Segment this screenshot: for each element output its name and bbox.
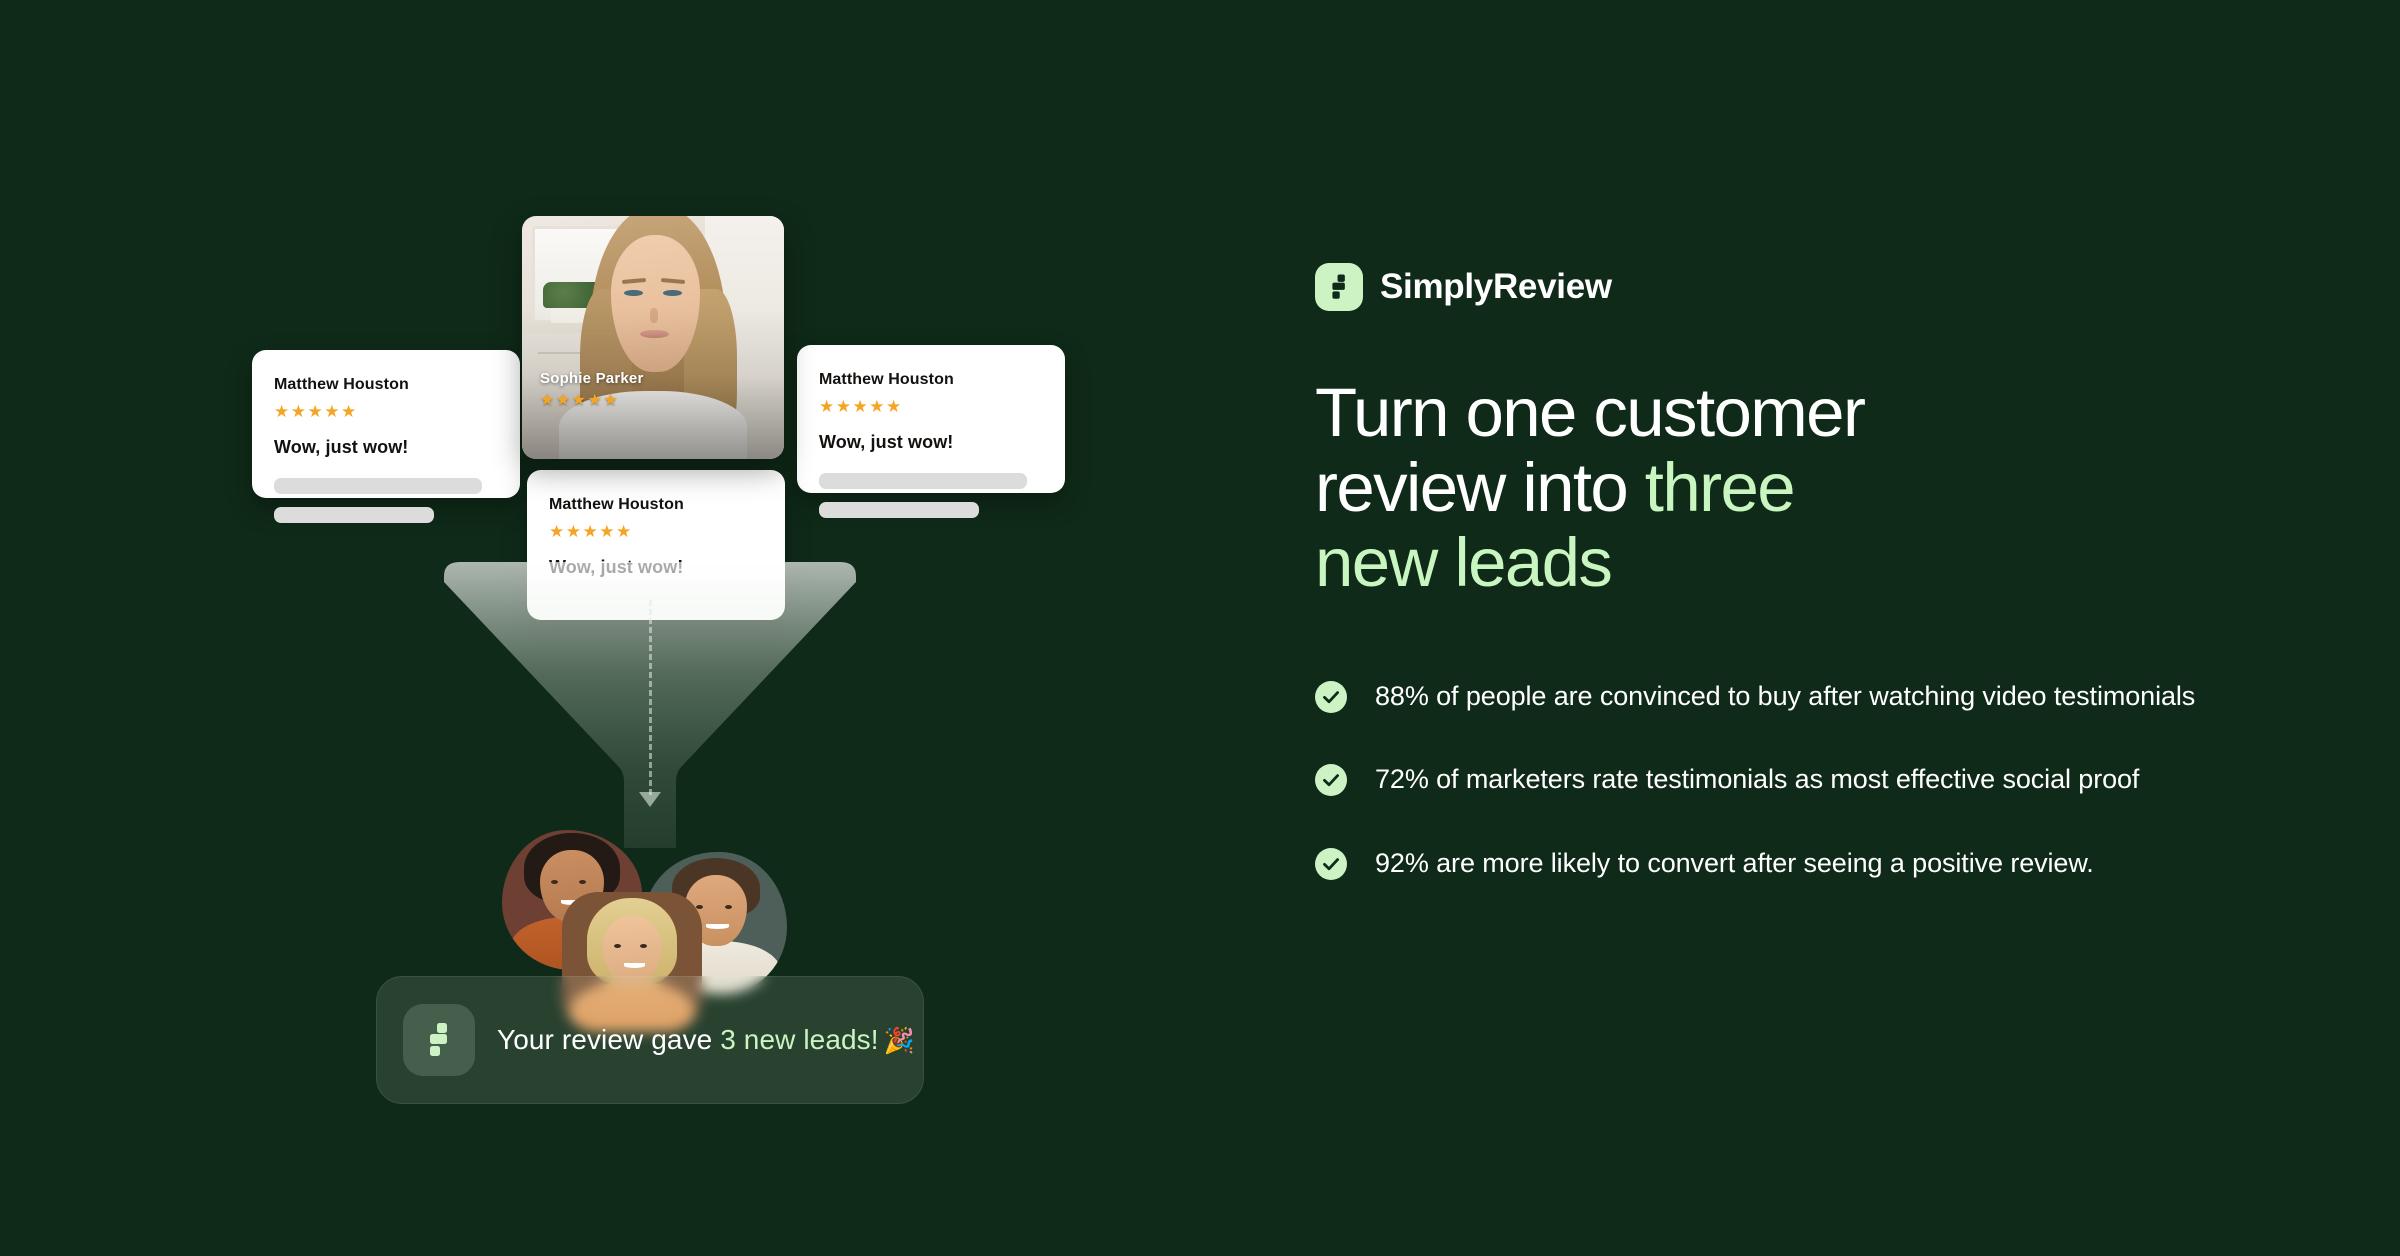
benefit-list: 88% of people are convinced to buy after… — [1315, 677, 2225, 883]
party-popper-emoji-icon: 🎉 — [884, 1027, 915, 1055]
headline-line-3-accent: new leads — [1315, 524, 1611, 601]
list-item: 88% of people are convinced to buy after… — [1315, 677, 2225, 716]
list-item: 92% are more likely to convert after see… — [1315, 844, 2225, 883]
video-meta: Sophie Parker ★★★★★ — [540, 370, 643, 409]
toast-message-accent: 3 new leads! — [720, 1024, 878, 1055]
page-title: Turn one customerreview into threenew le… — [1315, 375, 2075, 601]
brand-name: SimplyReview — [1380, 267, 1612, 307]
simplyreview-s-glyph-icon — [403, 1004, 475, 1076]
star-rating-icon: ★★★★★ — [819, 398, 1043, 415]
check-circle-icon — [1315, 681, 1347, 713]
review-author-name: Matthew Houston — [274, 376, 498, 394]
review-quote: Wow, just wow! — [274, 437, 498, 458]
review-card[interactable]: Matthew Houston ★★★★★ Wow, just wow! — [252, 350, 520, 498]
placeholder-bar — [274, 478, 482, 494]
review-author-name: Matthew Houston — [819, 371, 1043, 389]
s-glyph — [1328, 273, 1350, 301]
headline-line-2-accent: three — [1645, 449, 1794, 526]
list-item-label: 92% are more likely to convert after see… — [1375, 844, 2094, 883]
review-quote: Wow, just wow! — [819, 432, 1043, 453]
check-circle-icon — [1315, 848, 1347, 880]
check-circle-icon — [1315, 764, 1347, 796]
list-item: 72% of marketers rate testimonials as mo… — [1315, 760, 2225, 799]
list-item-label: 72% of marketers rate testimonials as mo… — [1375, 760, 2139, 799]
video-testimonial-card[interactable]: Sophie Parker ★★★★★ — [522, 216, 784, 459]
star-rating-icon: ★★★★★ — [549, 523, 763, 540]
s-glyph — [424, 1022, 454, 1058]
lead-notification-toast[interactable]: Your review gave 3 new leads!🎉 — [376, 976, 924, 1104]
list-item-label: 88% of people are convinced to buy after… — [1375, 677, 2195, 716]
video-author-name: Sophie Parker — [540, 370, 643, 387]
illustration-stage: Matthew Houston ★★★★★ Wow, just wow! Mat… — [0, 0, 1280, 1256]
placeholder-bar — [819, 473, 1027, 489]
review-card[interactable]: Matthew Houston ★★★★★ Wow, just wow! — [797, 345, 1065, 493]
placeholder-bar — [274, 507, 434, 523]
toast-message-prefix: Your review gave — [497, 1024, 720, 1055]
brand-lockup[interactable]: SimplyReview — [1315, 263, 2400, 311]
marketing-content-panel: SimplyReview Turn one customerreview int… — [1315, 0, 2400, 1256]
placeholder-bar — [819, 502, 979, 518]
review-author-name: Matthew Houston — [549, 496, 763, 514]
headline-line-2-plain: review into — [1315, 449, 1645, 526]
headline-line-1: Turn one customer — [1315, 374, 1864, 451]
star-rating-icon: ★★★★★ — [274, 403, 498, 420]
simplyreview-logo-icon — [1315, 263, 1363, 311]
star-rating-icon: ★★★★★ — [540, 393, 643, 409]
flow-dashed-line — [649, 600, 652, 795]
toast-message: Your review gave 3 new leads!🎉 — [497, 1024, 915, 1056]
